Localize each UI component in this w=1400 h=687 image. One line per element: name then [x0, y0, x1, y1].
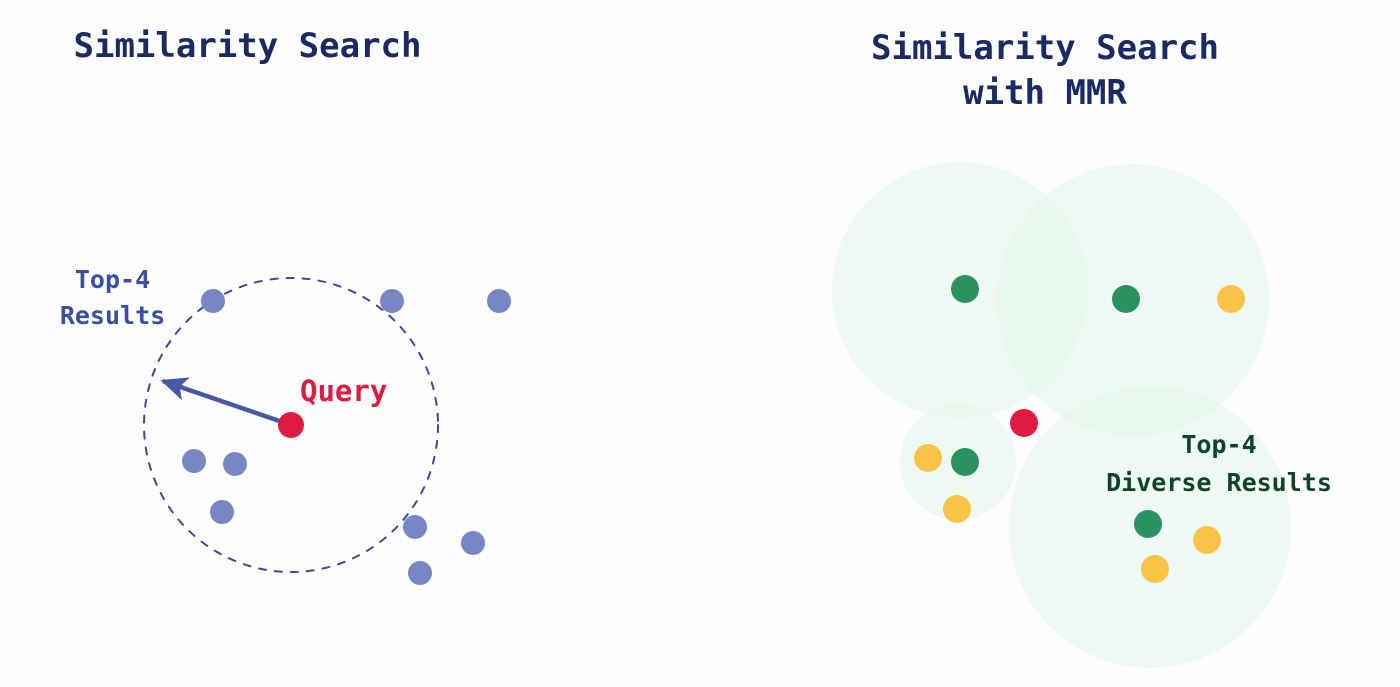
- document-point-4: [182, 449, 206, 473]
- mmr-point-yellow-4: [914, 444, 942, 472]
- mmr-point-green-1: [951, 275, 979, 303]
- radius-arrow: [163, 381, 291, 425]
- document-point-3: [487, 289, 511, 313]
- left-document-points: [182, 289, 511, 585]
- mmr-point-yellow-6: [943, 495, 971, 523]
- right-panel-title-line-2: with MMR: [795, 71, 1295, 116]
- document-point-1: [201, 289, 225, 313]
- left-panel-title: Similarity Search: [74, 26, 422, 66]
- diagram-canvas: Similarity Search Similarity Search with…: [0, 0, 1400, 687]
- top4-diverse-results-label-line-2: Diverse Results: [1019, 464, 1400, 502]
- document-point-8: [461, 531, 485, 555]
- top4-results-label: Top-4 Results: [30, 262, 195, 334]
- left-panel-title-wrap: Similarity Search: [0, 26, 495, 66]
- mmr-point-green-7: [1134, 510, 1162, 538]
- mmr-cluster-regions: [832, 162, 1291, 668]
- mmr-point-yellow-8: [1193, 526, 1221, 554]
- top4-results-label-line-1: Top-4: [30, 262, 195, 298]
- mmr-point-yellow-9: [1141, 555, 1169, 583]
- document-point-9: [408, 561, 432, 585]
- document-point-7: [403, 515, 427, 539]
- query-label-text: Query: [300, 374, 387, 408]
- mmr-point-yellow-3: [1217, 285, 1245, 313]
- top4-diverse-results-label-line-1: Top-4: [1019, 426, 1400, 464]
- document-point-5: [223, 452, 247, 476]
- left-panel: [144, 278, 511, 585]
- top4-results-label-line-2: Results: [30, 298, 195, 334]
- right-panel-title-wrap: Similarity Search with MMR: [795, 26, 1295, 116]
- query-label: Query: [300, 374, 387, 408]
- document-point-2: [380, 289, 404, 313]
- right-panel-title-line-1: Similarity Search: [795, 26, 1295, 71]
- mmr-point-green-2: [1112, 285, 1140, 313]
- mmr-point-green-5: [951, 448, 979, 476]
- document-point-6: [210, 500, 234, 524]
- query-point: [278, 412, 304, 438]
- top4-diverse-results-label: Top-4 Diverse Results: [1019, 426, 1400, 502]
